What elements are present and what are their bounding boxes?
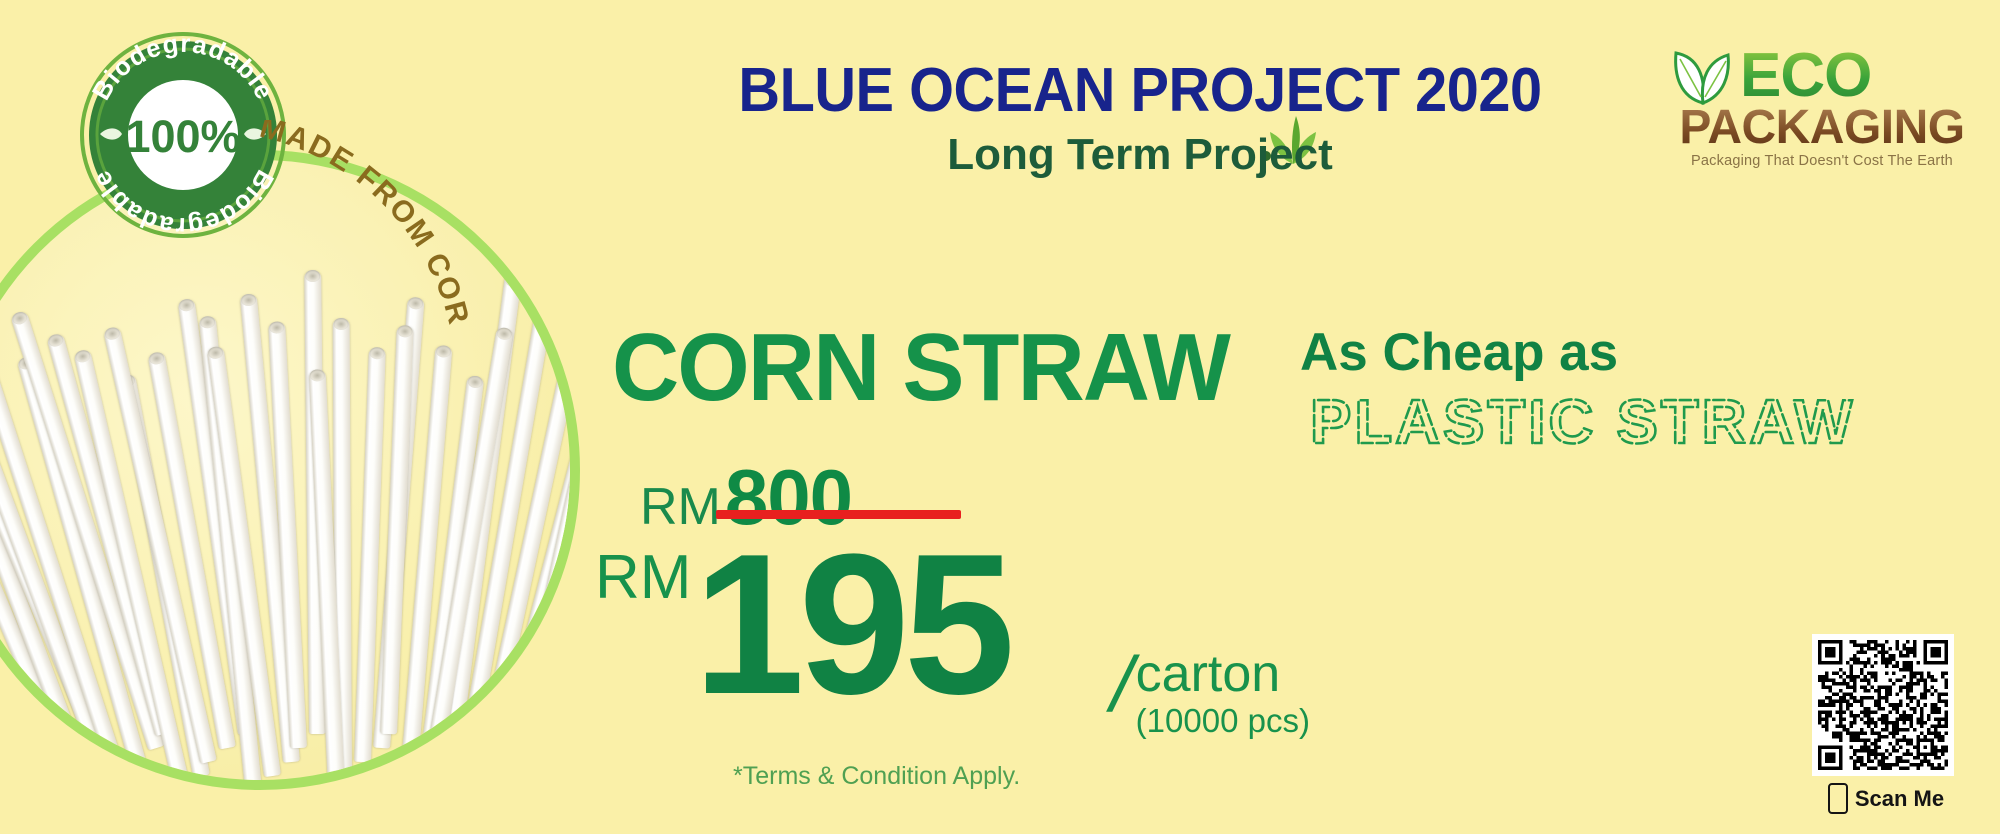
svg-text:MADE FROM CORN: MADE FROM CORN xyxy=(230,120,475,329)
qr-code[interactable] xyxy=(1812,634,1954,776)
scan-me-label: Scan Me xyxy=(1855,786,1944,812)
compare-line-2: PLASTIC STRAW xyxy=(1310,385,1870,457)
badge-center-text: 100% xyxy=(125,111,240,162)
per-unit-block: / carton (10000 pcs) xyxy=(1112,648,1310,740)
new-price: RM 195 xyxy=(595,530,1009,720)
logo-eco-text: ECO xyxy=(1740,47,1871,105)
qr-block[interactable]: Scan Me xyxy=(1812,634,1960,814)
promotional-banner: Biodegradable Biodegradable 100% MADE FR… xyxy=(0,0,2000,834)
new-price-currency: RM xyxy=(595,530,691,626)
page-subtitle: Long Term Project xyxy=(690,130,1590,180)
phone-icon xyxy=(1828,783,1848,814)
page-title: BLUE OCEAN PROJECT 2020 xyxy=(722,55,1559,126)
plastic-straw-text: PLASTIC STRAW xyxy=(1310,388,1855,457)
product-headline: CORN STRAW xyxy=(612,320,1229,416)
per-unit-label: carton xyxy=(1136,648,1310,700)
quantity-label: (10000 pcs) xyxy=(1136,702,1310,740)
logo-packaging-text: PACKAGING xyxy=(1672,105,1972,151)
logo-leaf-icon xyxy=(1672,47,1734,105)
made-from-corn-text: MADE FROM CORN xyxy=(230,120,475,329)
eco-packaging-logo: ECO PACKAGING Packaging That Doesn't Cos… xyxy=(1672,45,1972,165)
compare-line-1: As Cheap as xyxy=(1300,325,1618,381)
new-price-amount: 195 xyxy=(693,530,1009,720)
terms-note: *Terms & Condition Apply. xyxy=(733,762,1020,791)
logo-tagline: Packaging That Doesn't Cost The Earth xyxy=(1672,153,1972,169)
